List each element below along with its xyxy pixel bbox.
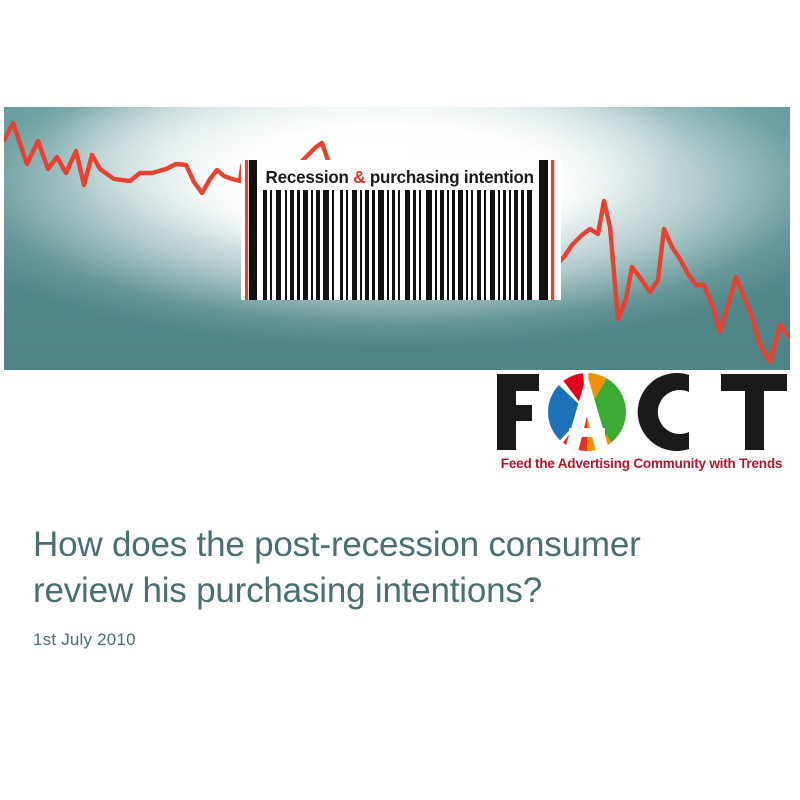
barcode-title-ampersand: &: [353, 167, 365, 187]
barcode-guard-black-left: [249, 160, 257, 300]
barcode-title-suffix: purchasing intention: [365, 167, 534, 187]
barcode-guard-red-left: [245, 160, 248, 300]
logo-letter-a: [541, 368, 635, 456]
fact-logo-tagline: Feed the Advertising Community with Tren…: [489, 456, 794, 471]
page-title-line-2: review his purchasing intentions?: [33, 571, 542, 610]
page-title: How does the post-recession consumerrevi…: [33, 522, 763, 614]
logo-colour-wheel: [541, 368, 635, 456]
barcode-guard-red-right: [551, 160, 554, 300]
fact-logo: Feed the Advertising Community with Tren…: [489, 368, 794, 480]
logo-letter-t: [721, 374, 787, 450]
title-slide: Recession & purchasing intention: [0, 0, 800, 800]
barcode-title-prefix: Recession: [266, 167, 354, 187]
barcode-title: Recession & purchasing intention: [261, 165, 538, 189]
barcode-guard-black-right: [539, 160, 548, 300]
slide-date: 1st July 2010: [33, 630, 136, 650]
page-title-line-1: How does the post-recession consumer: [33, 525, 641, 564]
letter-a-crossbar-gap: [569, 428, 605, 437]
fact-logo-mark: [489, 368, 794, 456]
logo-letter-f: [497, 374, 539, 450]
title-block: How does the post-recession consumerrevi…: [33, 522, 763, 614]
